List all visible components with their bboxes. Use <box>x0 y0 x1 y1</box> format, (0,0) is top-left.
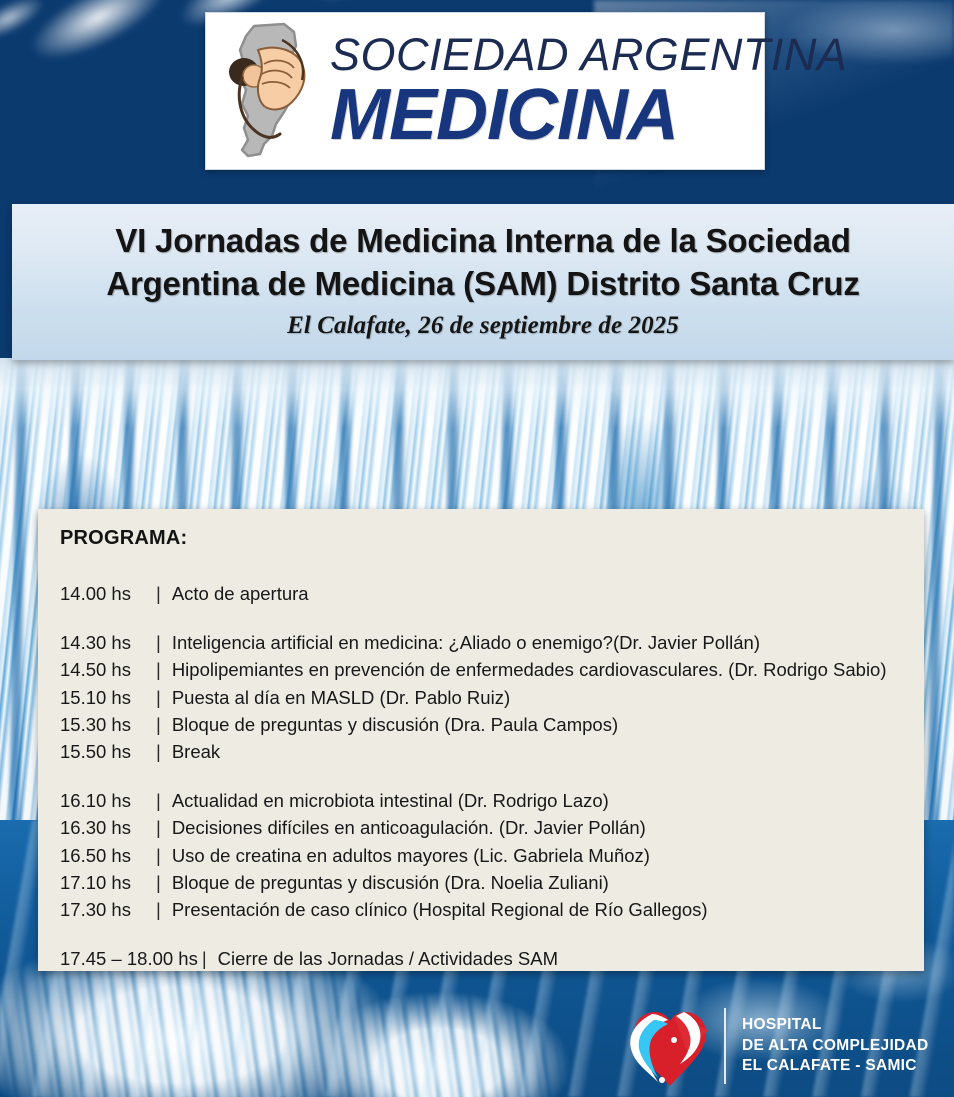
schedule-description: Bloque de preguntas y discusión (Dra. Pa… <box>172 711 902 738</box>
schedule-description: Acto de apertura <box>172 580 902 607</box>
schedule-separator: | <box>152 869 172 896</box>
program-panel: PROGRAMA: 14.00 hs|Acto de apertura14.30… <box>38 509 924 971</box>
schedule-separator: | <box>152 738 172 765</box>
schedule-time: 16.50 hs <box>60 842 152 869</box>
heart-swoosh-icon <box>622 1002 718 1090</box>
schedule-time: 14.30 hs <box>60 629 152 656</box>
schedule-separator: | <box>152 629 172 656</box>
logo-line-medicina: MEDICINA <box>330 79 847 151</box>
schedule-row: 14.30 hs|Inteligencia artificial en medi… <box>60 629 902 656</box>
schedule-row: 14.50 hs|Hipolipemiantes en prevención d… <box>60 656 902 683</box>
schedule-time: 14.50 hs <box>60 656 152 683</box>
schedule-separator: | <box>152 656 172 683</box>
schedule-row: 14.00 hs|Acto de apertura <box>60 580 902 607</box>
schedule-group: 17.45 – 18.00 hs|Cierre de las Jornadas … <box>60 945 902 972</box>
schedule-description: Inteligencia artificial en medicina: ¿Al… <box>172 629 902 656</box>
schedule-description: Uso de creatina en adultos mayores (Lic.… <box>172 842 902 869</box>
page-subtitle: El Calafate, 26 de septiembre de 2025 <box>287 312 679 340</box>
program-heading: PROGRAMA: <box>60 527 902 550</box>
schedule-row: 17.10 hs|Bloque de preguntas y discusión… <box>60 869 902 896</box>
schedule-description: Presentación de caso clínico (Hospital R… <box>172 896 902 923</box>
schedule-description: Hipolipemiantes en prevención de enferme… <box>172 656 902 683</box>
schedule-time: 17.10 hs <box>60 869 152 896</box>
schedule-group: 14.30 hs|Inteligencia artificial en medi… <box>60 629 902 765</box>
schedule-description: Cierre de las Jornadas / Actividades SAM <box>218 945 902 972</box>
logo-wordmark: SOCIEDAD ARGENTINA MEDICINA <box>326 32 847 151</box>
schedule-separator: | <box>152 814 172 841</box>
hospital-name-line1: HOSPITAL <box>742 1015 929 1035</box>
schedule-separator: | <box>152 684 172 711</box>
schedule-separator: | <box>152 787 172 814</box>
page-title-line1: VI Jornadas de Medicina Interna de la So… <box>115 220 850 262</box>
schedule-row: 15.10 hs|Puesta al día en MASLD (Dr. Pab… <box>60 684 902 711</box>
schedule-description: Actualidad en microbiota intestinal (Dr.… <box>172 787 902 814</box>
schedule-list: 14.00 hs|Acto de apertura14.30 hs|Inteli… <box>60 580 902 972</box>
schedule-row: 17.45 – 18.00 hs|Cierre de las Jornadas … <box>60 945 902 972</box>
hospital-name-line3: EL CALAFATE - SAMIC <box>742 1056 929 1076</box>
schedule-time: 15.30 hs <box>60 711 152 738</box>
schedule-separator: | <box>152 580 172 607</box>
logo-line-sociedad-argentina: SOCIEDAD ARGENTINA <box>330 32 847 77</box>
schedule-row: 17.30 hs|Presentación de caso clínico (H… <box>60 896 902 923</box>
schedule-group: 16.10 hs|Actualidad en microbiota intest… <box>60 787 902 923</box>
schedule-description: Puesta al día en MASLD (Dr. Pablo Ruiz) <box>172 684 902 711</box>
hospital-logo-divider <box>724 1008 726 1084</box>
title-banner: VI Jornadas de Medicina Interna de la So… <box>12 204 954 360</box>
hospital-logo-text: HOSPITAL DE ALTA COMPLEJIDAD EL CALAFATE… <box>742 1015 929 1076</box>
schedule-separator: | <box>152 711 172 738</box>
schedule-time: 15.50 hs <box>60 738 152 765</box>
argentina-map-doctor-icon <box>214 20 326 162</box>
schedule-row: 15.50 hs|Break <box>60 738 902 765</box>
schedule-separator: | <box>152 896 172 923</box>
schedule-description: Bloque de preguntas y discusión (Dra. No… <box>172 869 902 896</box>
schedule-time: 14.00 hs <box>60 580 152 607</box>
page-title-line2: Argentina de Medicina (SAM) Distrito San… <box>106 263 859 305</box>
hospital-name-line2: DE ALTA COMPLEJIDAD <box>742 1036 929 1056</box>
schedule-description: Decisiones difíciles en anticoagulación.… <box>172 814 902 841</box>
schedule-time: 16.10 hs <box>60 787 152 814</box>
schedule-time: 15.10 hs <box>60 684 152 711</box>
schedule-separator: | <box>198 945 218 972</box>
schedule-row: 16.50 hs|Uso de creatina en adultos mayo… <box>60 842 902 869</box>
schedule-row: 16.10 hs|Actualidad en microbiota intest… <box>60 787 902 814</box>
hospital-logo: HOSPITAL DE ALTA COMPLEJIDAD EL CALAFATE… <box>622 1000 942 1092</box>
schedule-row: 16.30 hs|Decisiones difíciles en anticoa… <box>60 814 902 841</box>
schedule-separator: | <box>152 842 172 869</box>
schedule-time: 17.45 – 18.00 hs <box>60 945 198 972</box>
schedule-description: Break <box>172 738 902 765</box>
schedule-group: 14.00 hs|Acto de apertura <box>60 580 902 607</box>
schedule-time: 16.30 hs <box>60 814 152 841</box>
schedule-time: 17.30 hs <box>60 896 152 923</box>
schedule-row: 15.30 hs|Bloque de preguntas y discusión… <box>60 711 902 738</box>
sociedad-argentina-medicina-logo: SOCIEDAD ARGENTINA MEDICINA <box>205 12 765 170</box>
